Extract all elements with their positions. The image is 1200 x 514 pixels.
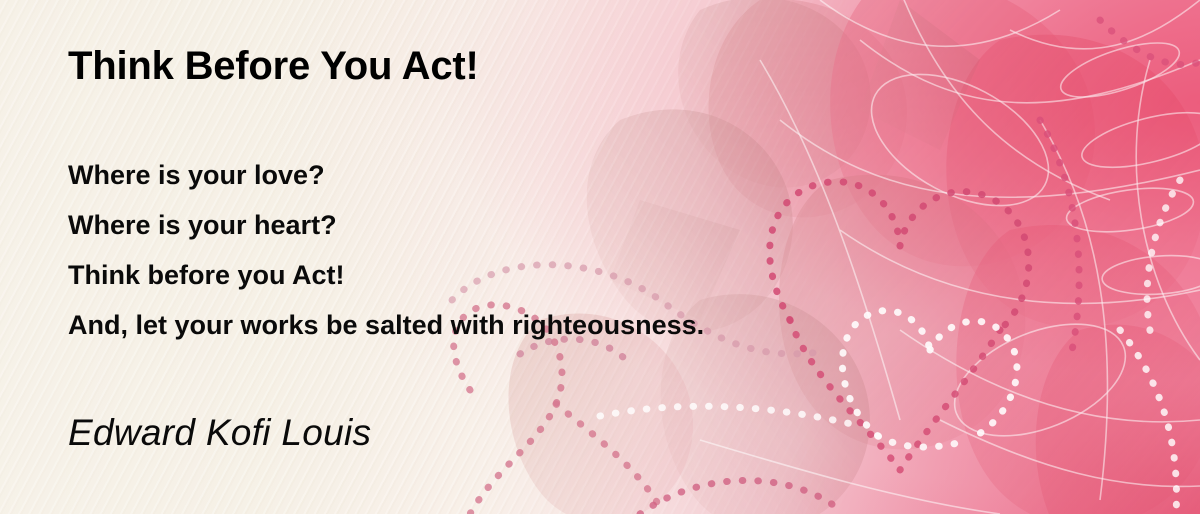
- page-title: Think Before You Act!: [68, 44, 479, 89]
- poem-card: Think Before You Act! Where is your love…: [0, 0, 1200, 514]
- poem-line: And, let your works be salted with right…: [68, 300, 704, 350]
- poem-author: Edward Kofi Louis: [68, 412, 371, 454]
- poem-line: Think before you Act!: [68, 250, 704, 300]
- poem-line: Where is your love?: [68, 150, 704, 200]
- poem-body: Where is your love? Where is your heart?…: [68, 150, 704, 350]
- poem-line: Where is your heart?: [68, 200, 704, 250]
